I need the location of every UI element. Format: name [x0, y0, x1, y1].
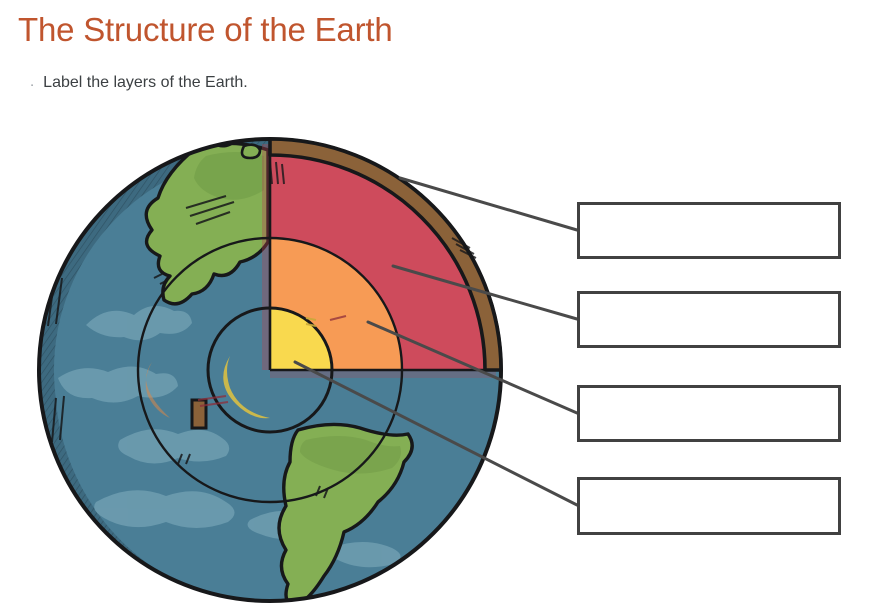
answer-box-outer-core-value[interactable]	[580, 388, 838, 439]
instruction-bullet-icon: .	[30, 71, 34, 93]
answer-box-outer-core[interactable]	[577, 385, 841, 442]
answer-box-crust-value[interactable]	[580, 205, 838, 256]
instruction-row: . Label the layers of the Earth.	[30, 72, 248, 94]
answer-box-inner-core[interactable]	[577, 477, 841, 535]
island-small-2	[242, 145, 260, 158]
answer-box-inner-core-value[interactable]	[580, 480, 838, 532]
answer-box-mantle[interactable]	[577, 291, 841, 348]
earth-cutaway-diagram	[0, 110, 880, 610]
earth-diagram-stage	[0, 110, 880, 610]
instruction-text: Label the layers of the Earth.	[43, 72, 248, 94]
answer-box-crust[interactable]	[577, 202, 841, 259]
answer-box-mantle-value[interactable]	[580, 294, 838, 345]
page-title: The Structure of the Earth	[18, 8, 393, 52]
